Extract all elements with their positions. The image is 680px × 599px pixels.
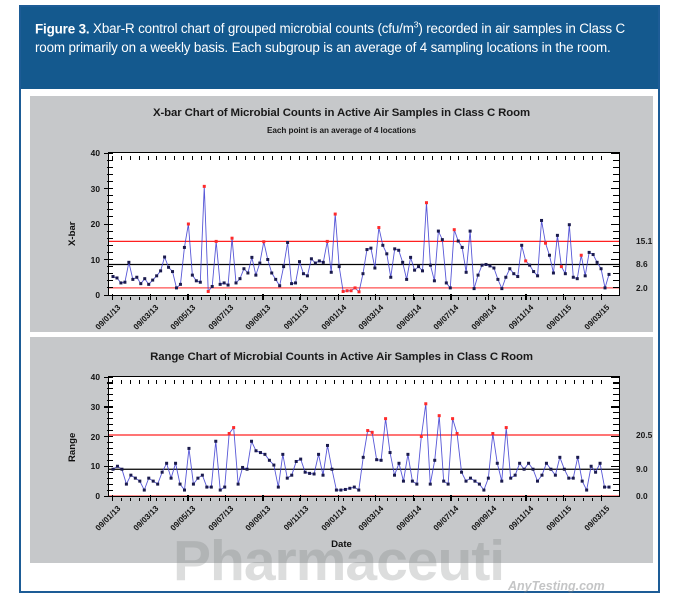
y-minor-tick [613, 167, 619, 168]
x-minor-tick [538, 297, 539, 301]
y-major-tick-right [611, 295, 620, 296]
y-minor-tick [107, 181, 113, 182]
xbar-chart-title: X-bar Chart of Microbial Counts in Activ… [30, 107, 653, 119]
x-minor-tick [556, 297, 557, 301]
figure-label: Figure 3. [35, 21, 89, 36]
x-minor-tick [121, 498, 122, 502]
y-minor-tick [107, 394, 113, 395]
y-minor-tick [107, 209, 113, 210]
x-minor-tick [263, 297, 264, 301]
x-minor-tick [405, 297, 406, 301]
x-major-tick [488, 294, 489, 300]
figure-caption: Figure 3. Xbar-R control chart of groupe… [35, 16, 644, 58]
y-minor-tick [613, 174, 619, 175]
x-minor-tick-top [325, 380, 326, 384]
x-minor-tick-top [343, 156, 344, 160]
y-minor-tick [613, 202, 619, 203]
x-minor-tick-top [361, 156, 362, 160]
y-tick-label: 40 [80, 372, 100, 382]
x-major-tick [187, 294, 188, 300]
y-minor-tick [613, 460, 619, 461]
x-tick-label: 09/03/15 [573, 504, 610, 541]
y-minor-tick [613, 454, 619, 455]
x-minor-tick-top [272, 380, 273, 384]
x-minor-tick [236, 297, 237, 301]
control-limit-label: 0.0 [636, 491, 648, 501]
x-minor-tick-top [299, 156, 300, 160]
y-major-tick [104, 188, 113, 189]
x-minor-tick [165, 498, 166, 502]
x-minor-tick [272, 297, 273, 301]
x-tick-label: 09/01/13 [85, 303, 122, 340]
x-minor-tick [343, 297, 344, 301]
x-minor-tick-top [156, 380, 157, 384]
x-minor-tick [565, 498, 566, 502]
y-minor-tick [613, 252, 619, 253]
y-tick-label: 20 [80, 432, 100, 442]
x-major-tick [338, 294, 339, 300]
x-minor-tick [592, 297, 593, 301]
x-minor-tick-top [538, 156, 539, 160]
x-major-tick [525, 495, 526, 501]
x-minor-tick [174, 498, 175, 502]
x-minor-tick [236, 498, 237, 502]
x-minor-tick-top [485, 156, 486, 160]
y-major-tick-right [611, 188, 620, 189]
y-minor-tick [107, 287, 113, 288]
y-major-tick-right [611, 466, 620, 467]
y-minor-tick [613, 400, 619, 401]
x-minor-tick [423, 297, 424, 301]
x-minor-tick [592, 498, 593, 502]
y-major-tick [104, 377, 113, 378]
y-minor-tick [613, 382, 619, 383]
x-minor-tick [299, 498, 300, 502]
x-minor-tick [432, 498, 433, 502]
y-minor-tick [107, 442, 113, 443]
x-minor-tick [361, 297, 362, 301]
y-minor-tick [107, 238, 113, 239]
x-minor-tick [334, 498, 335, 502]
x-minor-tick-top [387, 380, 388, 384]
x-minor-tick [183, 498, 184, 502]
x-minor-tick [601, 498, 602, 502]
x-minor-tick [148, 297, 149, 301]
control-limit-label: 9.0 [636, 464, 648, 474]
x-minor-tick-top [423, 380, 424, 384]
x-minor-tick [299, 297, 300, 301]
x-minor-tick-top [174, 156, 175, 160]
x-minor-tick-top [467, 380, 468, 384]
x-minor-tick-top [512, 380, 513, 384]
y-minor-tick [613, 245, 619, 246]
x-minor-tick [387, 498, 388, 502]
x-minor-tick-top [530, 380, 531, 384]
x-major-tick [300, 294, 301, 300]
figure-caption-banner: Figure 3. Xbar-R control chart of groupe… [21, 7, 658, 89]
y-minor-tick [107, 216, 113, 217]
x-minor-tick-top [254, 380, 255, 384]
x-minor-tick-top [165, 156, 166, 160]
x-minor-tick [165, 297, 166, 301]
x-minor-tick-top [556, 156, 557, 160]
y-tick-label: 30 [80, 402, 100, 412]
x-tick-label: 09/07/14 [423, 303, 460, 340]
x-minor-tick [316, 498, 317, 502]
x-minor-tick-top [467, 156, 468, 160]
x-minor-tick-top [592, 380, 593, 384]
x-minor-tick-top [503, 380, 504, 384]
x-minor-tick [379, 297, 380, 301]
y-minor-tick [107, 448, 113, 449]
x-tick-label: 09/03/15 [573, 303, 610, 340]
x-minor-tick [530, 498, 531, 502]
y-minor-tick [613, 231, 619, 232]
x-minor-tick-top [165, 380, 166, 384]
x-minor-tick [334, 297, 335, 301]
x-minor-tick-top [441, 380, 442, 384]
y-major-tick-right [611, 153, 620, 154]
y-tick-label: 10 [80, 255, 100, 265]
x-minor-tick-top [565, 156, 566, 160]
x-minor-tick-top [423, 156, 424, 160]
y-minor-tick [613, 287, 619, 288]
x-minor-tick [316, 297, 317, 301]
x-minor-tick [254, 498, 255, 502]
x-minor-tick-top [547, 156, 548, 160]
x-minor-tick-top [228, 380, 229, 384]
y-minor-tick [613, 160, 619, 161]
xbar-chart-subtitle: Each point is an average of 4 locations [30, 126, 653, 135]
x-minor-tick [183, 297, 184, 301]
x-minor-tick-top [192, 380, 193, 384]
x-minor-tick-top [494, 380, 495, 384]
x-minor-tick [219, 297, 220, 301]
x-tick-label: 09/03/13 [122, 504, 159, 541]
y-minor-tick [613, 490, 619, 491]
y-minor-tick [613, 418, 619, 419]
y-major-tick-right [611, 259, 620, 260]
range-y-axis-title: Range [67, 433, 78, 462]
x-minor-tick [521, 297, 522, 301]
x-minor-tick-top [601, 380, 602, 384]
y-major-tick-right [611, 224, 620, 225]
y-minor-tick [107, 472, 113, 473]
x-minor-tick-top [370, 380, 371, 384]
y-minor-tick [107, 400, 113, 401]
range-chart-title: Range Chart of Microbial Counts in Activ… [30, 351, 653, 363]
y-major-tick [104, 259, 113, 260]
x-major-tick [525, 294, 526, 300]
x-minor-tick-top [521, 380, 522, 384]
x-minor-tick [530, 297, 531, 301]
x-minor-tick [565, 297, 566, 301]
y-minor-tick [613, 442, 619, 443]
x-minor-tick-top [254, 156, 255, 160]
y-minor-tick [107, 160, 113, 161]
x-minor-tick-top [316, 380, 317, 384]
x-minor-tick-top [156, 156, 157, 160]
x-minor-tick-top [476, 380, 477, 384]
y-minor-tick [613, 412, 619, 413]
y-minor-tick [107, 478, 113, 479]
y-minor-tick [107, 195, 113, 196]
y-minor-tick [107, 245, 113, 246]
y-minor-tick [613, 280, 619, 281]
x-minor-tick-top [494, 156, 495, 160]
x-minor-tick [583, 297, 584, 301]
x-minor-tick-top [210, 156, 211, 160]
x-minor-tick [307, 297, 308, 301]
xbar-series-svg [109, 153, 619, 295]
x-minor-tick [379, 498, 380, 502]
x-minor-tick-top [405, 380, 406, 384]
x-minor-tick [467, 297, 468, 301]
y-minor-tick [613, 484, 619, 485]
y-minor-tick [613, 209, 619, 210]
x-minor-tick [485, 297, 486, 301]
x-minor-tick-top [307, 380, 308, 384]
x-minor-tick [396, 297, 397, 301]
x-minor-tick-top [130, 380, 131, 384]
x-minor-tick [556, 498, 557, 502]
x-minor-tick-top [352, 380, 353, 384]
x-minor-tick [210, 498, 211, 502]
y-minor-tick [613, 273, 619, 274]
x-minor-tick [245, 297, 246, 301]
y-major-tick [104, 406, 113, 407]
x-minor-tick [476, 498, 477, 502]
y-minor-tick [107, 412, 113, 413]
x-major-tick [375, 294, 376, 300]
x-minor-tick-top [316, 156, 317, 160]
x-minor-tick-top [307, 156, 308, 160]
figure-caption-body: Xbar-R control chart of grouped microbia… [35, 21, 625, 55]
x-minor-tick-top [290, 380, 291, 384]
x-minor-tick-top [210, 380, 211, 384]
x-minor-tick-top [281, 156, 282, 160]
x-minor-tick-top [263, 380, 264, 384]
x-minor-tick [201, 297, 202, 301]
x-minor-tick [139, 498, 140, 502]
x-minor-tick-top [450, 156, 451, 160]
y-minor-tick [107, 418, 113, 419]
x-minor-tick-top [370, 156, 371, 160]
x-major-tick [187, 495, 188, 501]
x-minor-tick-top [183, 156, 184, 160]
x-minor-tick-top [121, 380, 122, 384]
control-limit-label: 8.6 [636, 259, 648, 269]
x-minor-tick-top [112, 380, 113, 384]
x-minor-tick [485, 498, 486, 502]
x-minor-tick [547, 297, 548, 301]
x-minor-tick [405, 498, 406, 502]
x-minor-tick-top [414, 380, 415, 384]
y-minor-tick [107, 430, 113, 431]
y-major-tick-right [611, 436, 620, 437]
x-minor-tick [574, 297, 575, 301]
x-minor-tick [450, 297, 451, 301]
x-minor-tick-top [139, 380, 140, 384]
x-minor-tick-top [503, 156, 504, 160]
x-minor-tick [156, 297, 157, 301]
xbar-chart-panel: X-bar Chart of Microbial Counts in Activ… [30, 96, 653, 332]
x-minor-tick [450, 498, 451, 502]
x-minor-tick [281, 297, 282, 301]
y-tick-label: 0 [80, 290, 100, 300]
x-tick-label: 09/05/14 [386, 303, 423, 340]
x-minor-tick [112, 498, 113, 502]
x-minor-tick-top [290, 156, 291, 160]
y-minor-tick [107, 388, 113, 389]
x-major-tick [300, 495, 301, 501]
x-minor-tick-top [458, 380, 459, 384]
x-minor-tick-top [201, 380, 202, 384]
x-minor-tick [352, 498, 353, 502]
y-major-tick-right [611, 377, 620, 378]
x-minor-tick-top [192, 156, 193, 160]
xbar-y-axis-title: X-bar [67, 221, 78, 246]
x-minor-tick-top [405, 156, 406, 160]
x-minor-tick [245, 498, 246, 502]
x-minor-tick [343, 498, 344, 502]
x-minor-tick [121, 297, 122, 301]
x-minor-tick-top [325, 156, 326, 160]
y-minor-tick [613, 424, 619, 425]
x-tick-label: 09/11/13 [273, 303, 310, 340]
x-minor-tick-top [512, 156, 513, 160]
x-minor-tick [547, 498, 548, 502]
x-minor-tick-top [299, 380, 300, 384]
x-minor-tick [441, 498, 442, 502]
x-minor-tick-top [432, 156, 433, 160]
x-tick-label: 09/09/13 [235, 303, 272, 340]
x-minor-tick [476, 297, 477, 301]
watermark-primary: Pharmaceuti [173, 528, 504, 594]
x-tick-label: 09/11/14 [498, 303, 535, 340]
x-minor-tick [423, 498, 424, 502]
x-minor-tick [432, 297, 433, 301]
x-tick-label: 09/03/14 [348, 303, 385, 340]
y-tick-label: 30 [80, 184, 100, 194]
x-minor-tick [361, 498, 362, 502]
y-minor-tick [107, 484, 113, 485]
y-tick-label: 40 [80, 148, 100, 158]
y-minor-tick [107, 424, 113, 425]
x-minor-tick-top [574, 380, 575, 384]
x-minor-tick-top [387, 156, 388, 160]
x-minor-tick-top [592, 156, 593, 160]
x-minor-tick-top [583, 156, 584, 160]
y-minor-tick [107, 202, 113, 203]
x-minor-tick-top [379, 380, 380, 384]
x-minor-tick [281, 498, 282, 502]
y-minor-tick [107, 273, 113, 274]
x-minor-tick-top [574, 156, 575, 160]
x-major-tick [150, 294, 151, 300]
y-minor-tick [107, 266, 113, 267]
xbar-plot-area [108, 152, 620, 296]
x-minor-tick-top [414, 156, 415, 160]
y-minor-tick [613, 216, 619, 217]
y-minor-tick [613, 472, 619, 473]
x-minor-tick-top [432, 380, 433, 384]
x-minor-tick-top [263, 156, 264, 160]
x-minor-tick-top [112, 156, 113, 160]
y-tick-label: 20 [80, 219, 100, 229]
y-minor-tick [613, 448, 619, 449]
y-tick-label: 0 [80, 491, 100, 501]
x-minor-tick [219, 498, 220, 502]
x-minor-tick [467, 498, 468, 502]
x-minor-tick [494, 297, 495, 301]
x-tick-label: 09/01/13 [85, 504, 122, 541]
x-minor-tick-top [485, 380, 486, 384]
y-minor-tick [107, 167, 113, 168]
x-minor-tick [263, 498, 264, 502]
x-tick-label: 09/01/15 [536, 504, 573, 541]
x-minor-tick [414, 498, 415, 502]
x-minor-tick [583, 498, 584, 502]
x-minor-tick-top [245, 156, 246, 160]
x-minor-tick-top [228, 156, 229, 160]
x-minor-tick [228, 297, 229, 301]
y-major-tick-right [611, 496, 620, 497]
x-tick-label: 09/01/14 [310, 303, 347, 340]
control-limit-label: 20.5 [636, 430, 652, 440]
x-minor-tick [396, 498, 397, 502]
x-minor-tick-top [183, 380, 184, 384]
x-minor-tick-top [272, 156, 273, 160]
x-minor-tick [290, 297, 291, 301]
x-minor-tick [307, 498, 308, 502]
x-tick-label: 09/05/13 [160, 303, 197, 340]
x-minor-tick [414, 297, 415, 301]
x-minor-tick [192, 498, 193, 502]
y-minor-tick [107, 252, 113, 253]
x-minor-tick-top [441, 156, 442, 160]
y-major-tick [104, 153, 113, 154]
x-minor-tick-top [396, 156, 397, 160]
x-minor-tick-top [219, 380, 220, 384]
x-minor-tick-top [236, 380, 237, 384]
x-minor-tick-top [458, 156, 459, 160]
y-minor-tick [613, 238, 619, 239]
x-minor-tick [494, 498, 495, 502]
y-major-tick [104, 436, 113, 437]
x-minor-tick-top [281, 380, 282, 384]
x-minor-tick-top [201, 156, 202, 160]
x-minor-tick [201, 498, 202, 502]
x-minor-tick [387, 297, 388, 301]
x-minor-tick [503, 498, 504, 502]
x-minor-tick-top [583, 380, 584, 384]
x-minor-tick [139, 297, 140, 301]
x-minor-tick [352, 297, 353, 301]
x-minor-tick-top [139, 156, 140, 160]
x-minor-tick-top [450, 380, 451, 384]
x-minor-tick [503, 297, 504, 301]
x-major-tick [225, 495, 226, 501]
y-minor-tick [107, 174, 113, 175]
x-minor-tick [210, 297, 211, 301]
x-minor-tick-top [148, 380, 149, 384]
y-major-tick [104, 224, 113, 225]
x-minor-tick-top [476, 156, 477, 160]
y-minor-tick [613, 478, 619, 479]
y-minor-tick [107, 460, 113, 461]
x-tick-label: 09/03/13 [122, 303, 159, 340]
